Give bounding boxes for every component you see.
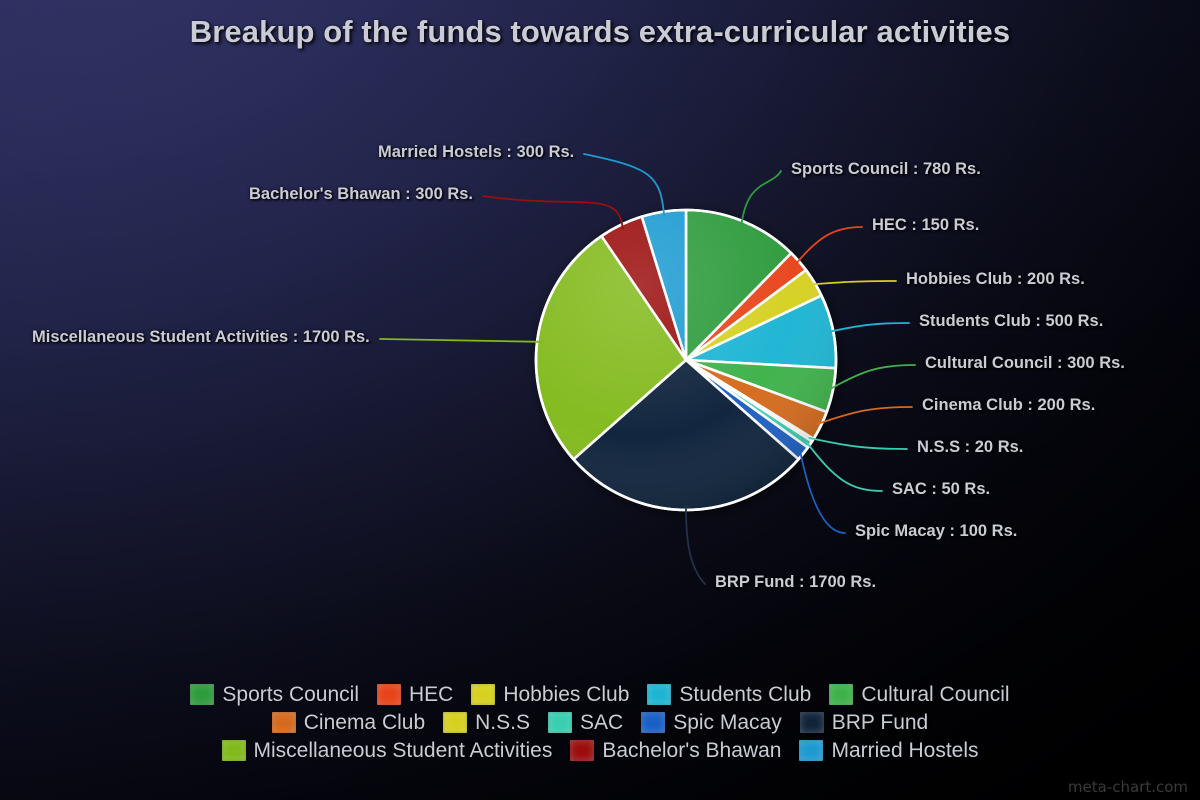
leader-line-nss bbox=[809, 438, 907, 449]
legend-swatch-icon bbox=[222, 740, 246, 761]
legend-label: Sports Council bbox=[222, 681, 359, 708]
leader-line-cultural-council bbox=[829, 365, 915, 390]
callout-bachelors-bhawan: Bachelor's Bhawan : 300 Rs. bbox=[249, 185, 473, 204]
legend-item[interactable]: Cinema Club bbox=[272, 709, 425, 736]
callout-sac: SAC : 50 Rs. bbox=[892, 480, 990, 499]
legend-label: Married Hostels bbox=[831, 737, 978, 764]
legend-label: N.S.S bbox=[475, 709, 530, 736]
legend-label: SAC bbox=[580, 709, 623, 736]
leader-line-hobbies-club bbox=[811, 281, 896, 285]
legend-swatch-icon bbox=[272, 712, 296, 733]
legend-item[interactable]: BRP Fund bbox=[800, 709, 929, 736]
leader-line-married-hostels bbox=[584, 154, 664, 216]
legend-swatch-icon bbox=[829, 684, 853, 705]
callout-miscellaneous: Miscellaneous Student Activities : 1700 … bbox=[32, 328, 370, 347]
legend-label: Spic Macay bbox=[673, 709, 782, 736]
callout-married-hostels: Married Hostels : 300 Rs. bbox=[378, 143, 574, 162]
chart-canvas: Breakup of the funds towards extra-curri… bbox=[0, 0, 1200, 800]
legend-swatch-icon bbox=[799, 740, 823, 761]
legend-label: Miscellaneous Student Activities bbox=[254, 737, 553, 764]
callout-cultural-council: Cultural Council : 300 Rs. bbox=[925, 354, 1125, 373]
legend-label: BRP Fund bbox=[832, 709, 929, 736]
legend-row: Sports CouncilHECHobbies ClubStudents Cl… bbox=[181, 681, 1018, 708]
legend-label: Cinema Club bbox=[304, 709, 425, 736]
leader-line-spic-macay bbox=[800, 451, 845, 533]
leader-line-miscellaneous bbox=[380, 339, 541, 342]
legend-item[interactable]: Miscellaneous Student Activities bbox=[222, 737, 553, 764]
legend-row: Cinema ClubN.S.SSACSpic MacayBRP Fund bbox=[263, 709, 937, 736]
leader-line-students-club bbox=[829, 323, 909, 332]
callout-sports-council: Sports Council : 780 Rs. bbox=[791, 160, 981, 179]
callout-students-club: Students Club : 500 Rs. bbox=[919, 312, 1103, 331]
legend-label: Cultural Council bbox=[861, 681, 1009, 708]
callout-hobbies-club: Hobbies Club : 200 Rs. bbox=[906, 270, 1085, 289]
legend-swatch-icon bbox=[548, 712, 572, 733]
leader-line-sac bbox=[807, 442, 882, 491]
legend-swatch-icon bbox=[471, 684, 495, 705]
callout-nss: N.S.S : 20 Rs. bbox=[917, 438, 1023, 457]
callout-spic-macay: Spic Macay : 100 Rs. bbox=[855, 522, 1017, 541]
legend-swatch-icon bbox=[647, 684, 671, 705]
legend-item[interactable]: N.S.S bbox=[443, 709, 530, 736]
legend-row: Miscellaneous Student ActivitiesBachelor… bbox=[213, 737, 988, 764]
legend-item[interactable]: Married Hostels bbox=[799, 737, 978, 764]
legend-swatch-icon bbox=[641, 712, 665, 733]
legend-item[interactable]: HEC bbox=[377, 681, 453, 708]
legend-label: HEC bbox=[409, 681, 453, 708]
legend-item[interactable]: Students Club bbox=[647, 681, 811, 708]
leader-line-bachelors-bhawan bbox=[483, 196, 623, 229]
leader-line-cinema-club bbox=[817, 407, 912, 424]
legend-item[interactable]: SAC bbox=[548, 709, 623, 736]
legend-item[interactable]: Hobbies Club bbox=[471, 681, 629, 708]
legend-item[interactable]: Bachelor's Bhawan bbox=[570, 737, 781, 764]
leader-line-brp-fund bbox=[686, 506, 705, 584]
watermark: meta-chart.com bbox=[1068, 778, 1188, 796]
legend-swatch-icon bbox=[570, 740, 594, 761]
callout-cinema-club: Cinema Club : 200 Rs. bbox=[922, 396, 1095, 415]
page-title: Breakup of the funds towards extra-curri… bbox=[0, 14, 1200, 50]
legend-label: Bachelor's Bhawan bbox=[602, 737, 781, 764]
legend-item[interactable]: Cultural Council bbox=[829, 681, 1009, 708]
callout-brp-fund: BRP Fund : 1700 Rs. bbox=[715, 573, 876, 592]
legend-item[interactable]: Sports Council bbox=[190, 681, 359, 708]
pie-slices bbox=[536, 210, 836, 510]
legend-label: Hobbies Club bbox=[503, 681, 629, 708]
legend-label: Students Club bbox=[679, 681, 811, 708]
legend-swatch-icon bbox=[800, 712, 824, 733]
leader-line-sports-council bbox=[741, 171, 781, 225]
legend-swatch-icon bbox=[377, 684, 401, 705]
callout-hec: HEC : 150 Rs. bbox=[872, 216, 979, 235]
legend-swatch-icon bbox=[190, 684, 214, 705]
leader-line-hec bbox=[796, 227, 862, 264]
legend-swatch-icon bbox=[443, 712, 467, 733]
chart-legend: Sports CouncilHECHobbies ClubStudents Cl… bbox=[0, 681, 1200, 764]
legend-item[interactable]: Spic Macay bbox=[641, 709, 782, 736]
